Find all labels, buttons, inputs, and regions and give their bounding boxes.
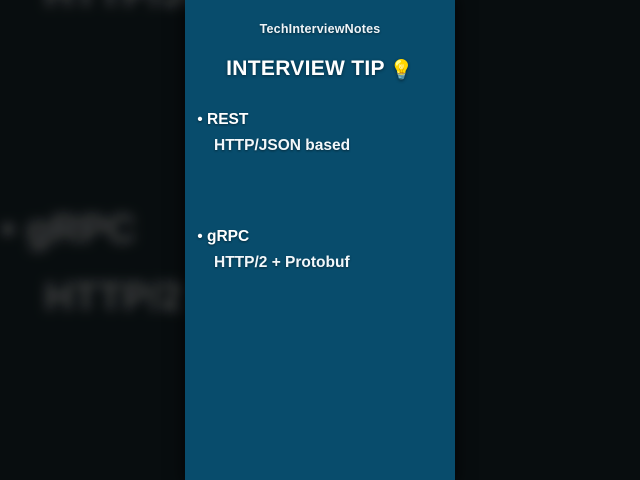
bullet-detail-grpc: HTTP/2 + Protobuf [214,254,447,272]
backdrop-bullet-term: gRPC [26,209,136,256]
bullet-term-grpc: gRPC [207,228,249,246]
video-player-viewport: TechInterviewNotes INTERVIEW TIP💡 • REST… [0,0,640,480]
bullet-detail-rest: HTTP/JSON based [214,137,447,155]
bullet-dot-icon: • [193,229,207,244]
bullet-heading-rest: • REST [193,111,447,129]
video-slide-card[interactable]: TechInterviewNotes INTERVIEW TIP💡 • REST… [185,0,455,480]
channel-name: TechInterviewNotes [185,22,455,36]
bullet-dot-icon: • [0,211,26,250]
bullet-term-rest: REST [207,111,248,129]
bullet-list: • REST HTTP/JSON based • gRPC HTTP/2 + P… [185,105,455,480]
bullet-item-grpc: • gRPC HTTP/2 + Protobuf [193,228,447,272]
slide-title-text: INTERVIEW TIP [226,57,385,80]
bullet-heading-grpc: • gRPC [193,228,447,246]
bullet-dot-icon: • [193,112,207,127]
light-bulb-emoji: 💡 [390,60,414,81]
slide-title: INTERVIEW TIP💡 [185,57,455,82]
bullet-item-rest: • REST HTTP/JSON based [193,111,447,155]
